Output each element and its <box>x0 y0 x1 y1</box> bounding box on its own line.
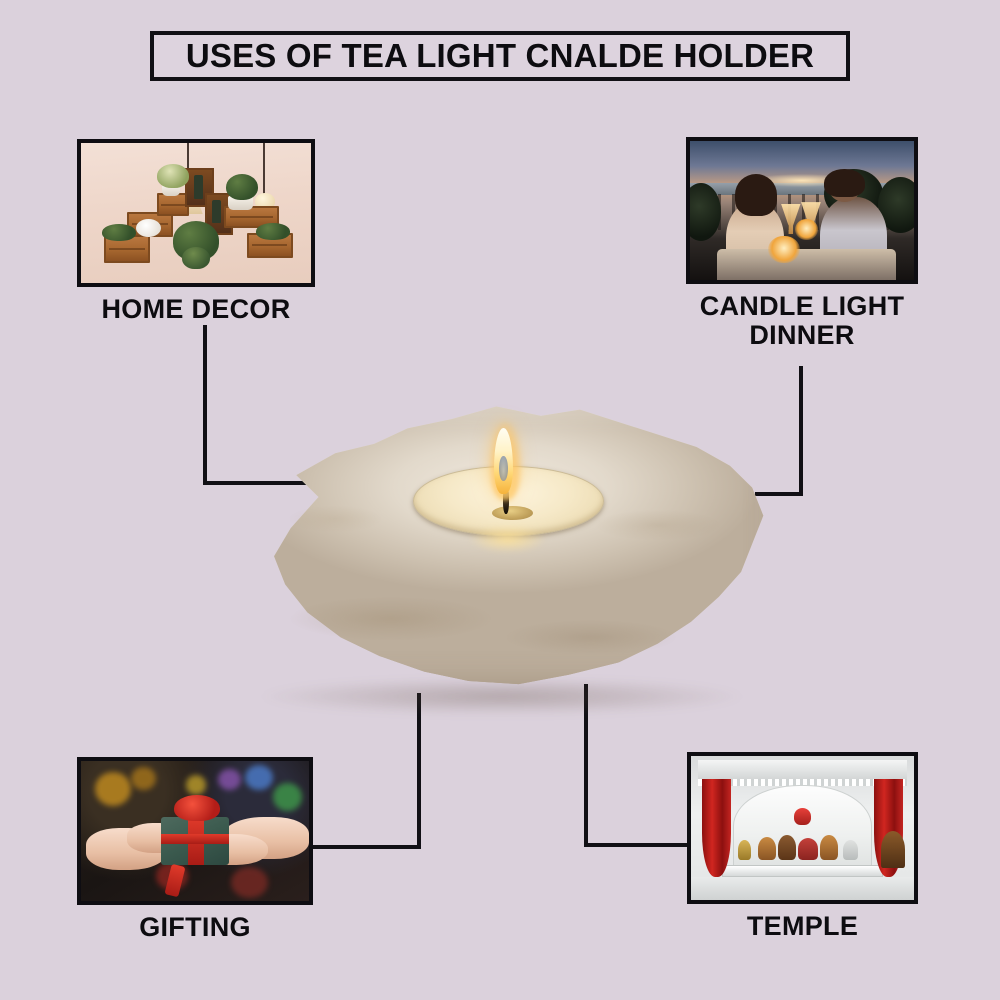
gifting-image <box>81 761 309 901</box>
callout-temple[interactable]: TEMPLE <box>687 752 918 941</box>
dinner-caption-line-1: CANDLE LIGHT <box>686 292 918 321</box>
temple-caption: TEMPLE <box>687 912 918 941</box>
connector-temple-horizontal <box>584 843 690 847</box>
temple-image <box>691 756 914 900</box>
dinner-image-frame <box>686 137 918 284</box>
home-decor-caption: HOME DECOR <box>77 295 315 324</box>
connector-home-decor-vertical <box>203 325 207 485</box>
candle-flame-core <box>499 456 507 481</box>
candle-wick-base <box>492 506 533 520</box>
poster-title-box: USES OF TEA LIGHT CNALDE HOLDER <box>150 31 850 81</box>
tea-light-candle-holder <box>224 394 780 706</box>
connector-dinner-vertical <box>799 366 803 496</box>
dinner-caption: CANDLE LIGHT DINNER <box>686 292 918 350</box>
gifting-caption: GIFTING <box>77 913 313 942</box>
infographic-poster: USES OF TEA LIGHT CNALDE HOLDER <box>0 0 1000 1000</box>
home-decor-image-frame <box>77 139 315 287</box>
stone-shadow <box>263 678 741 715</box>
connector-gifting-vertical <box>417 693 421 849</box>
candle-glow <box>469 525 547 553</box>
dinner-image <box>690 141 914 280</box>
temple-image-frame <box>687 752 918 904</box>
home-decor-image <box>81 143 311 283</box>
callout-gifting[interactable]: GIFTING <box>77 757 313 942</box>
callout-candle-light-dinner[interactable]: CANDLE LIGHT DINNER <box>686 137 918 350</box>
gifting-image-frame <box>77 757 313 905</box>
poster-title: USES OF TEA LIGHT CNALDE HOLDER <box>186 37 814 75</box>
callout-home-decor[interactable]: HOME DECOR <box>77 139 315 324</box>
dinner-caption-line-2: DINNER <box>686 321 918 350</box>
connector-gifting-horizontal <box>311 845 421 849</box>
